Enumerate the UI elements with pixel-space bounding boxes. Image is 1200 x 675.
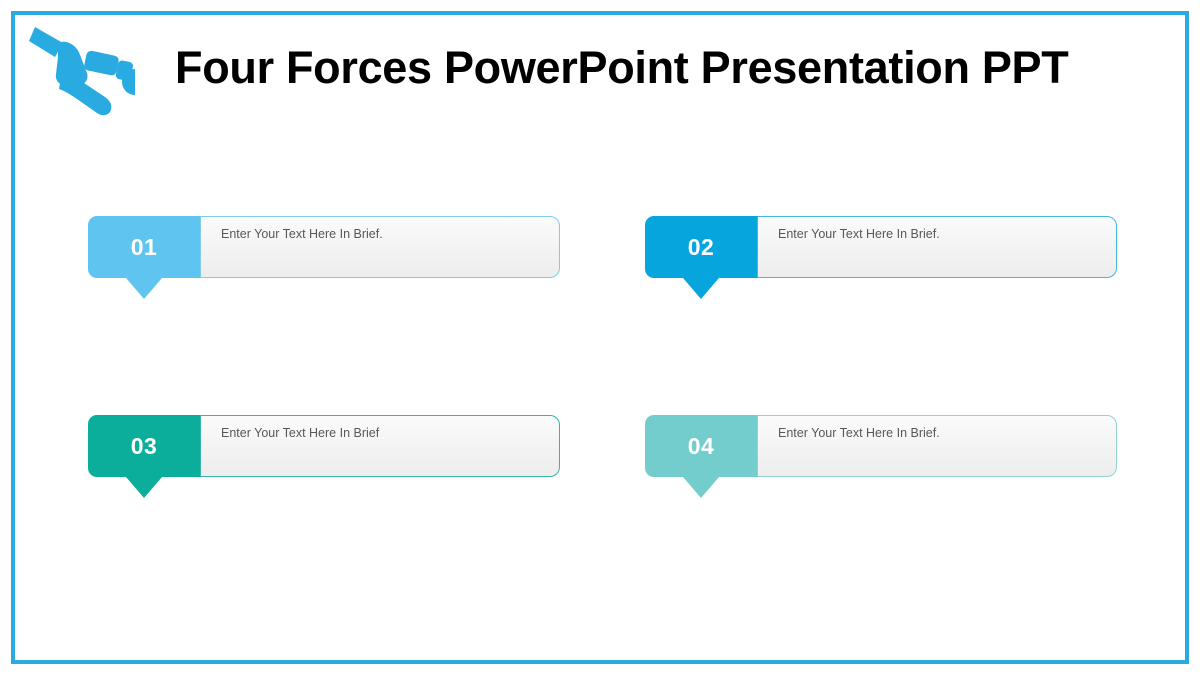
card-number-04: 04 bbox=[688, 433, 715, 460]
card-number-01: 01 bbox=[131, 234, 158, 261]
card-number-02: 02 bbox=[688, 234, 715, 261]
card-text-04: Enter Your Text Here In Brief. bbox=[778, 425, 940, 441]
card-text-panel-04[interactable]: Enter Your Text Here In Brief. bbox=[757, 415, 1117, 477]
card-text-panel-02[interactable]: Enter Your Text Here In Brief. bbox=[757, 216, 1117, 278]
slide: Four Forces PowerPoint Presentation PPT … bbox=[0, 0, 1200, 675]
card-number-03: 03 bbox=[131, 433, 158, 460]
card-text-01: Enter Your Text Here In Brief. bbox=[221, 226, 383, 242]
card-number-badge-01: 01 bbox=[88, 216, 200, 278]
card-pointer-tail-04 bbox=[683, 477, 719, 498]
card-03[interactable]: 03 Enter Your Text Here In Brief bbox=[88, 415, 560, 477]
card-number-badge-02: 02 bbox=[645, 216, 757, 278]
card-number-badge-03: 03 bbox=[88, 415, 200, 477]
cards-container: 01 Enter Your Text Here In Brief. 02 Ent… bbox=[0, 0, 1200, 675]
card-pointer-tail-01 bbox=[126, 278, 162, 299]
card-text-panel-01[interactable]: Enter Your Text Here In Brief. bbox=[200, 216, 560, 278]
card-text-panel-03[interactable]: Enter Your Text Here In Brief bbox=[200, 415, 560, 477]
card-01[interactable]: 01 Enter Your Text Here In Brief. bbox=[88, 216, 560, 278]
card-pointer-tail-03 bbox=[126, 477, 162, 498]
card-02[interactable]: 02 Enter Your Text Here In Brief. bbox=[645, 216, 1117, 278]
card-pointer-tail-02 bbox=[683, 278, 719, 299]
card-text-02: Enter Your Text Here In Brief. bbox=[778, 226, 940, 242]
card-04[interactable]: 04 Enter Your Text Here In Brief. bbox=[645, 415, 1117, 477]
card-number-badge-04: 04 bbox=[645, 415, 757, 477]
card-text-03: Enter Your Text Here In Brief bbox=[221, 425, 379, 441]
